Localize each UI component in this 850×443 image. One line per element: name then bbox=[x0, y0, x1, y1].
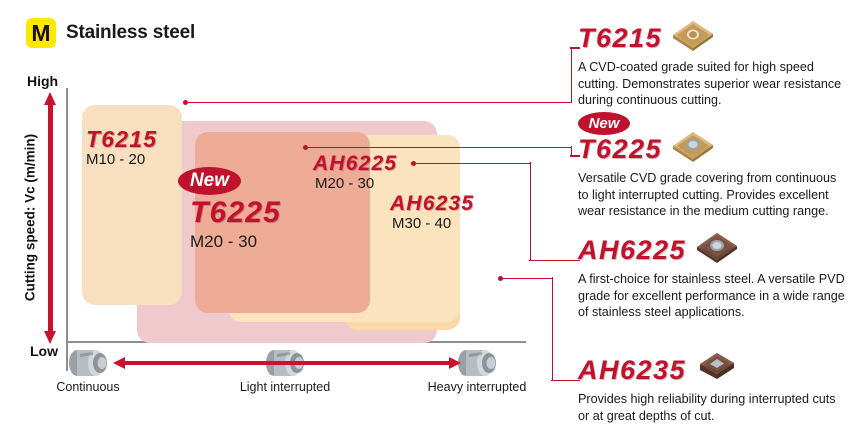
grade-description-t6225: Versatile CVD grade covering from contin… bbox=[578, 170, 850, 220]
iso-group-badge-m: M bbox=[26, 18, 56, 48]
interruption-axis-arrow-icon bbox=[113, 357, 461, 369]
grade-panel-ah6235[interactable]: AH6235 Provides high reliability during … bbox=[578, 352, 850, 424]
y-axis-label: Cutting speed: Vc (m/min) bbox=[23, 128, 38, 308]
application-range-chart: Cutting speed: Vc (m/min) High Low T6215… bbox=[0, 60, 575, 443]
connector-line-ah6235-v bbox=[552, 277, 554, 381]
x-tick-continuous: Continuous bbox=[28, 380, 148, 394]
region-range-ah6225: M20 - 30 bbox=[315, 175, 374, 192]
connector-line-ah6225-h2 bbox=[529, 260, 572, 262]
region-range-t6225: M20 - 30 bbox=[190, 232, 257, 252]
square-insert-bronze-icon bbox=[694, 350, 740, 391]
grade-panel-header-t6215: T6215 bbox=[578, 20, 850, 56]
connector-line-ah6225-v bbox=[530, 162, 532, 261]
y-axis-line bbox=[66, 88, 68, 371]
grade-panel-t6225[interactable]: New T6225 Versatile CVD grade covering f… bbox=[578, 112, 850, 220]
cutting-speed-arrow-icon bbox=[44, 92, 56, 344]
region-range-t6215: M10 - 20 bbox=[86, 151, 145, 168]
diagram-root: M Stainless steel Cutting speed: Vc (m/m… bbox=[0, 0, 850, 443]
diamond-insert-gold-icon bbox=[670, 18, 716, 59]
grade-name-ah6235: AH6235 bbox=[578, 355, 686, 386]
grade-description-ah6225: A first-choice for stainless steel. A ve… bbox=[578, 271, 850, 321]
grade-name-ah6225: AH6225 bbox=[578, 235, 686, 266]
connector-line-ah6235-h1 bbox=[501, 278, 553, 280]
grade-panel-ah6225[interactable]: AH6225 A first-choice for stainless stee… bbox=[578, 232, 850, 321]
x-tick-light-interrupted: Light interrupted bbox=[225, 380, 345, 394]
grade-description-ah6235: Provides high reliability during interru… bbox=[578, 391, 850, 424]
connector-line-t6225-h bbox=[306, 147, 572, 149]
region-range-ah6235: M30 - 40 bbox=[392, 215, 451, 232]
grade-panel-header-ah6235: AH6235 bbox=[578, 352, 850, 388]
tool-holder-icon-continuous bbox=[66, 348, 110, 378]
tool-holder-icon-heavy bbox=[455, 348, 499, 378]
new-badge-t6225: New bbox=[178, 167, 241, 195]
diamond-insert-gold-silver-icon bbox=[670, 129, 716, 170]
grade-name-t6225: T6225 bbox=[578, 134, 662, 165]
connector-line-t6215-v bbox=[571, 48, 573, 102]
region-label-t6215: T6215 bbox=[86, 126, 157, 153]
connector-line-t6215-h bbox=[186, 102, 572, 104]
y-axis-high-label: High bbox=[27, 73, 58, 89]
connector-line-ah6225-h1 bbox=[414, 163, 531, 165]
grade-name-t6215: T6215 bbox=[578, 23, 662, 54]
grade-panel-header-ah6225: AH6225 bbox=[578, 232, 850, 268]
diamond-insert-bronze-icon bbox=[694, 230, 740, 271]
region-label-ah6235: AH6235 bbox=[390, 192, 474, 216]
y-axis-low-label: Low bbox=[30, 343, 58, 359]
region-label-t6225: T6225 bbox=[190, 196, 281, 230]
x-tick-heavy-interrupted: Heavy interrupted bbox=[417, 380, 537, 394]
grade-panel-t6215[interactable]: T6215 A CVD-coated grade suited for high… bbox=[578, 20, 850, 109]
grade-panel-header-t6225: T6225 bbox=[578, 131, 850, 167]
page-title: Stainless steel bbox=[66, 22, 195, 44]
page-header: M Stainless steel bbox=[26, 18, 195, 48]
connector-line-ah6235-h2 bbox=[551, 380, 572, 382]
region-label-ah6225: AH6225 bbox=[313, 152, 397, 176]
grade-description-t6215: A CVD-coated grade suited for high speed… bbox=[578, 59, 850, 109]
